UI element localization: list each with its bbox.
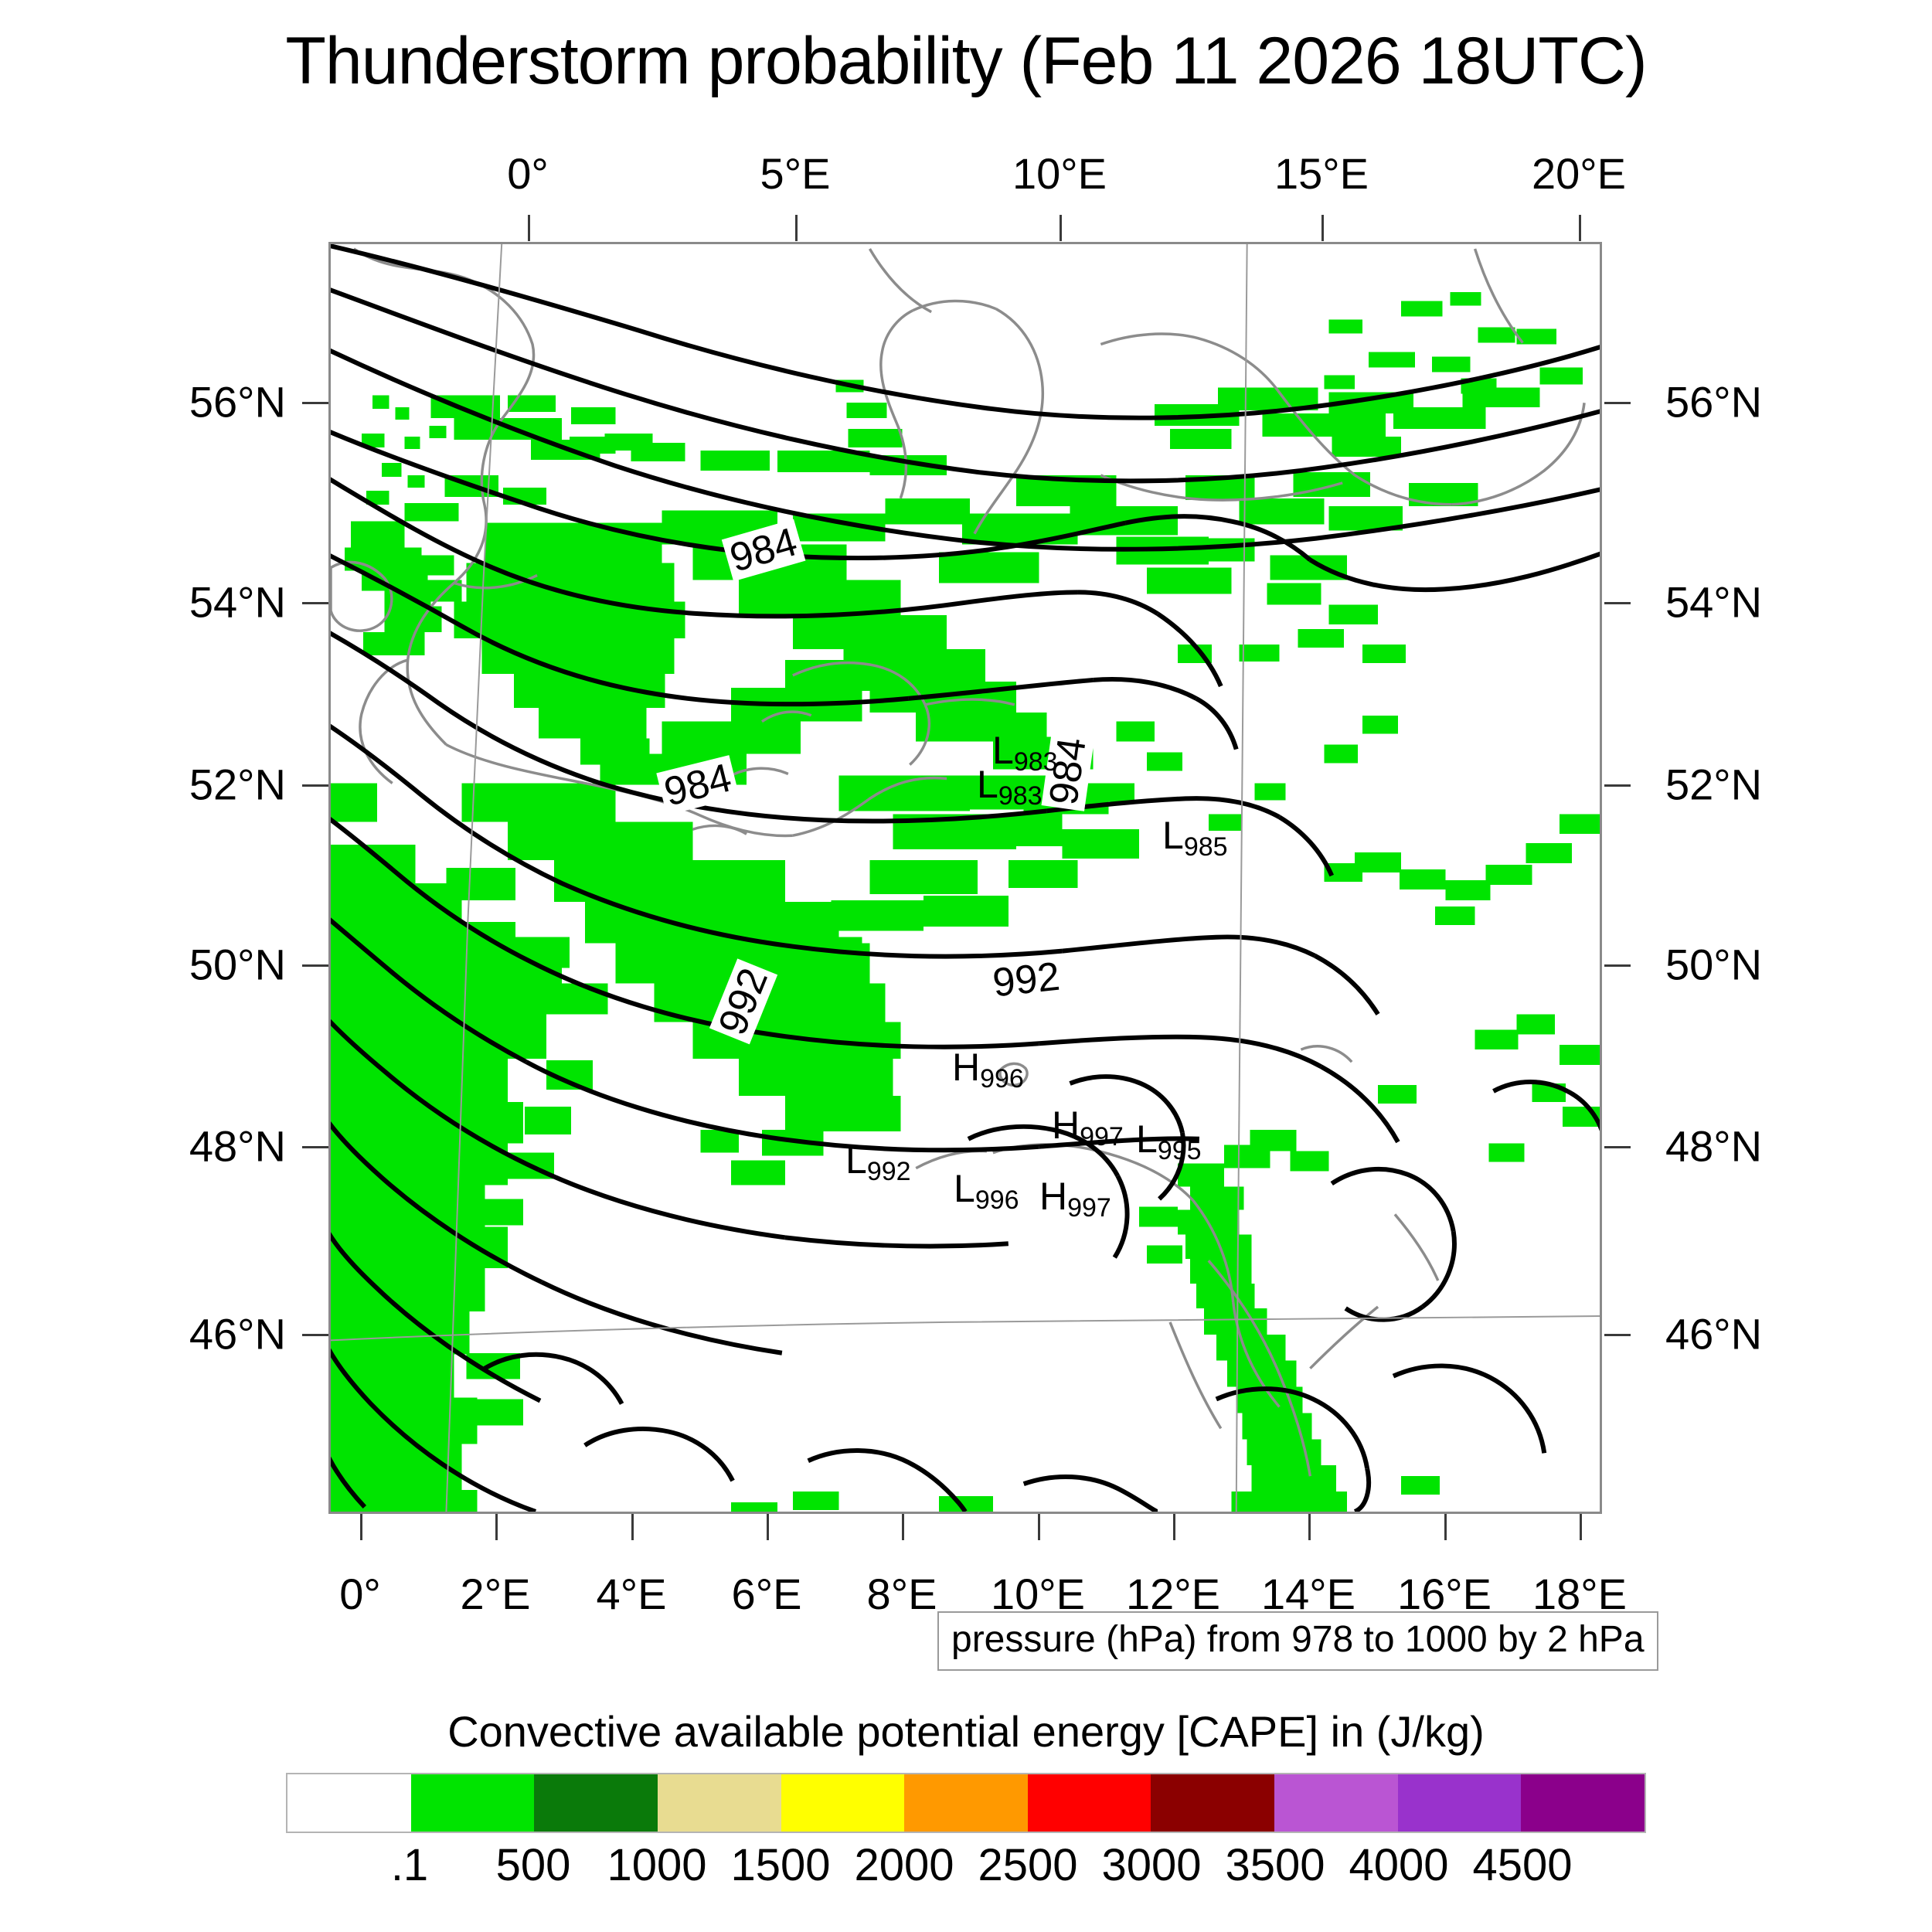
colorbar-band-6[interactable] — [1028, 1774, 1151, 1832]
tick-top-3 — [1321, 215, 1324, 241]
axis-bottom-label-0: 0° — [339, 1569, 381, 1619]
axis-top-label-3: 15°E — [1274, 148, 1369, 199]
axis-left-label-4: 48°N — [116, 1121, 286, 1172]
tick-bottom-7 — [1308, 1514, 1311, 1540]
colorbar-tick-0: .1 — [391, 1839, 428, 1891]
axis-left-label-5: 46°N — [116, 1309, 286, 1359]
colorbar-band-8[interactable] — [1274, 1774, 1398, 1832]
map-graphic — [331, 244, 1600, 1512]
tick-bottom-9 — [1580, 1514, 1582, 1540]
tick-left-2 — [302, 784, 328, 787]
colorbar-tick-3: 1500 — [730, 1839, 830, 1891]
pressure-low-995: L995 — [1136, 1120, 1202, 1158]
colorbar-tick-6: 3000 — [1101, 1839, 1201, 1891]
tick-left-3 — [302, 964, 328, 967]
tick-top-1 — [795, 215, 798, 241]
colorbar-tick-7: 3500 — [1225, 1839, 1325, 1891]
tick-bottom-0 — [360, 1514, 362, 1540]
weather-map-page: Thunderstorm probability (Feb 11 2026 18… — [0, 0, 1932, 1932]
colorbar-band-1[interactable] — [411, 1774, 535, 1832]
tick-bottom-6 — [1173, 1514, 1175, 1540]
tick-right-5 — [1604, 1334, 1631, 1336]
tick-left-0 — [302, 402, 328, 404]
colorbar-band-5[interactable] — [904, 1774, 1028, 1832]
pressure-low-983-b: L983 — [977, 765, 1043, 804]
axis-top-label-1: 5°E — [760, 148, 831, 199]
axis-bottom-label-2: 4°E — [597, 1569, 667, 1619]
colorbar-band-7[interactable] — [1151, 1774, 1274, 1832]
colorbar-band-10[interactable] — [1521, 1774, 1645, 1832]
colorbar-tick-9: 4500 — [1472, 1839, 1572, 1891]
axis-left-label-0: 56°N — [116, 377, 286, 427]
colorbar-title: Convective available potential energy [C… — [0, 1706, 1932, 1757]
contour-label-992-b: 992 — [987, 954, 1066, 1005]
axis-bottom-label-1: 2°E — [461, 1569, 531, 1619]
tick-right-1 — [1604, 602, 1631, 604]
axis-left-label-3: 50°N — [116, 940, 286, 990]
tick-right-4 — [1604, 1146, 1631, 1148]
page-title: Thunderstorm probability (Feb 11 2026 18… — [0, 23, 1932, 100]
pressure-high-996: H996 — [952, 1048, 1024, 1087]
tick-bottom-4 — [902, 1514, 904, 1540]
axis-bottom-label-3: 6°E — [732, 1569, 802, 1619]
tick-right-3 — [1604, 964, 1631, 967]
colorbar-tick-8: 4000 — [1349, 1839, 1448, 1891]
cape-shading — [331, 292, 1600, 1512]
tick-left-4 — [302, 1146, 328, 1148]
axis-top-label-4: 20°E — [1532, 148, 1626, 199]
axis-left-label-2: 52°N — [116, 760, 286, 810]
pressure-high-997-b: H997 — [1039, 1177, 1111, 1216]
pressure-low-985: L985 — [1162, 816, 1228, 855]
colorbar-band-9[interactable] — [1398, 1774, 1522, 1832]
tick-bottom-8 — [1444, 1514, 1447, 1540]
colorbar-tick-labels: .1 500 1000 1500 2000 2500 3000 3500 400… — [286, 1839, 1646, 1901]
tick-top-4 — [1579, 215, 1581, 241]
axis-right-label-5: 46°N — [1665, 1309, 1762, 1359]
colorbar-tick-5: 2500 — [978, 1839, 1077, 1891]
axis-left-label-1: 54°N — [116, 577, 286, 628]
colorbar-band-2[interactable] — [534, 1774, 658, 1832]
axis-right-label-2: 52°N — [1665, 760, 1762, 810]
colorbar-band-0[interactable] — [287, 1774, 411, 1832]
colorbar-band-4[interactable] — [781, 1774, 905, 1832]
tick-bottom-1 — [495, 1514, 498, 1540]
tick-bottom-3 — [767, 1514, 769, 1540]
colorbar-tick-2: 1000 — [607, 1839, 706, 1891]
colorbar[interactable] — [286, 1773, 1646, 1833]
pressure-low-996: L996 — [954, 1169, 1019, 1208]
axis-right-label-4: 48°N — [1665, 1121, 1762, 1172]
axis-top-label-0: 0° — [507, 148, 549, 199]
tick-top-0 — [528, 215, 530, 241]
tick-top-2 — [1060, 215, 1062, 241]
tick-bottom-5 — [1038, 1514, 1040, 1540]
pressure-low-983-a: L983 — [992, 731, 1058, 770]
tick-right-2 — [1604, 784, 1631, 787]
axis-right-label-0: 56°N — [1665, 377, 1762, 427]
pressure-high-997-a: H997 — [1052, 1106, 1124, 1145]
axis-right-label-3: 50°N — [1665, 940, 1762, 990]
colorbar-tick-4: 2000 — [854, 1839, 954, 1891]
pressure-low-992: L992 — [845, 1141, 911, 1179]
axis-bottom-label-4: 8°E — [867, 1569, 937, 1619]
tick-right-0 — [1604, 402, 1631, 404]
axis-right-label-1: 54°N — [1665, 577, 1762, 628]
map-canvas[interactable]: 984 984 984 992 992 L983 L983 L985 H996 … — [328, 242, 1602, 1514]
tick-bottom-2 — [631, 1514, 634, 1540]
colorbar-tick-1: 500 — [496, 1839, 571, 1891]
colorbar-band-3[interactable] — [658, 1774, 781, 1832]
tick-left-5 — [302, 1334, 328, 1336]
tick-left-1 — [302, 602, 328, 604]
axis-top-label-2: 10°E — [1012, 148, 1107, 199]
pressure-contour-note: pressure (hPa) from 978 to 1000 by 2 hPa — [937, 1611, 1658, 1671]
